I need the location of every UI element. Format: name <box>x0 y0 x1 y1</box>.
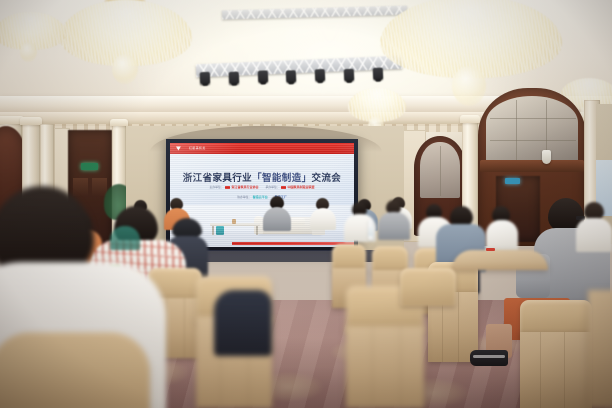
exit-sign-right <box>505 178 520 184</box>
chair-fold <box>540 332 541 408</box>
attendee-torso <box>378 212 410 240</box>
chair-skirt <box>346 326 424 408</box>
stage-light-par <box>200 72 210 84</box>
sponsor-tag: 承办单位： <box>266 185 280 189</box>
chair-fold <box>458 292 459 362</box>
stage-light-par <box>258 70 268 82</box>
chair-skirt <box>520 332 592 408</box>
stage-light-par <box>344 69 354 81</box>
chair-fold <box>372 326 373 408</box>
chair-foreground-right-2 <box>400 268 456 306</box>
chair-fold <box>184 298 185 358</box>
attendee-foreground-dark <box>214 290 272 356</box>
security-camera <box>542 150 551 164</box>
slide-header-band: 红星美凯龙 <box>170 143 354 154</box>
slide-title: 浙江省家具行业「智能制造」交流会 <box>170 170 354 184</box>
attendee-torso <box>214 290 272 356</box>
sponsor-item: 承办单位： 中国家具制造业联盟 <box>266 185 315 189</box>
sponsor-name: 浙江省家具行业协会 <box>231 185 258 189</box>
sponsor-row-1: 主办单位： 浙江省家具行业协会 承办单位： 中国家具制造业联盟 <box>170 185 354 189</box>
bottle-label <box>368 227 374 236</box>
chandelier-far-left <box>0 6 68 78</box>
sponsor-swatch <box>225 186 230 189</box>
shoe-stripe <box>473 355 505 359</box>
chair-skirt-right-edge <box>588 290 612 408</box>
pier-capital <box>460 115 480 123</box>
exit-sign-left <box>81 163 98 170</box>
chandelier-finial <box>452 66 486 106</box>
arch-right-rail <box>480 160 584 172</box>
water-bottle <box>368 220 374 240</box>
sponsor-name: 中国家具制造业联盟 <box>288 185 315 189</box>
conference-hall-photo: 红星美凯龙 浙江省家具行业「智能制造」交流会 主办单位： 浙江省家具行业协会 承… <box>0 0 612 408</box>
window-mullion <box>490 118 576 119</box>
slide-title-part1: 浙江省家具行业 <box>183 173 252 184</box>
banquet-table-right <box>452 250 548 270</box>
chair-fold <box>400 326 401 408</box>
window-mullion <box>490 140 576 141</box>
pen-red-right <box>486 248 495 251</box>
slide-title-part3: 交流会 <box>312 173 342 184</box>
attendee-torso <box>576 218 612 252</box>
arched-doorway-right-transom <box>486 96 578 162</box>
brand-logo-icon <box>176 145 187 152</box>
stage-light-par <box>315 69 325 81</box>
chandelier-finial <box>20 42 37 62</box>
stage-light-par <box>286 70 296 82</box>
sponsor-swatch <box>281 186 286 189</box>
pier-capital <box>110 119 128 126</box>
chair-fold <box>564 332 565 408</box>
slide-title-part2: 「智能制造」 <box>252 173 311 184</box>
sponsor-item: 主办单位： 浙江省家具行业协会 <box>209 185 258 189</box>
chandelier-finial <box>112 54 138 84</box>
brand-logo-text: 红星美凯龙 <box>189 146 206 150</box>
pier-capital <box>20 117 42 125</box>
attendee-shoe <box>470 350 508 366</box>
attendee-torso <box>263 207 291 231</box>
sponsor-tag: 主办单位： <box>209 185 223 189</box>
window-mullion <box>516 100 517 162</box>
stage-light-par <box>229 72 239 84</box>
chair-foreground <box>0 332 150 408</box>
chandelier-left <box>56 0 196 102</box>
window-mullion <box>440 146 441 196</box>
